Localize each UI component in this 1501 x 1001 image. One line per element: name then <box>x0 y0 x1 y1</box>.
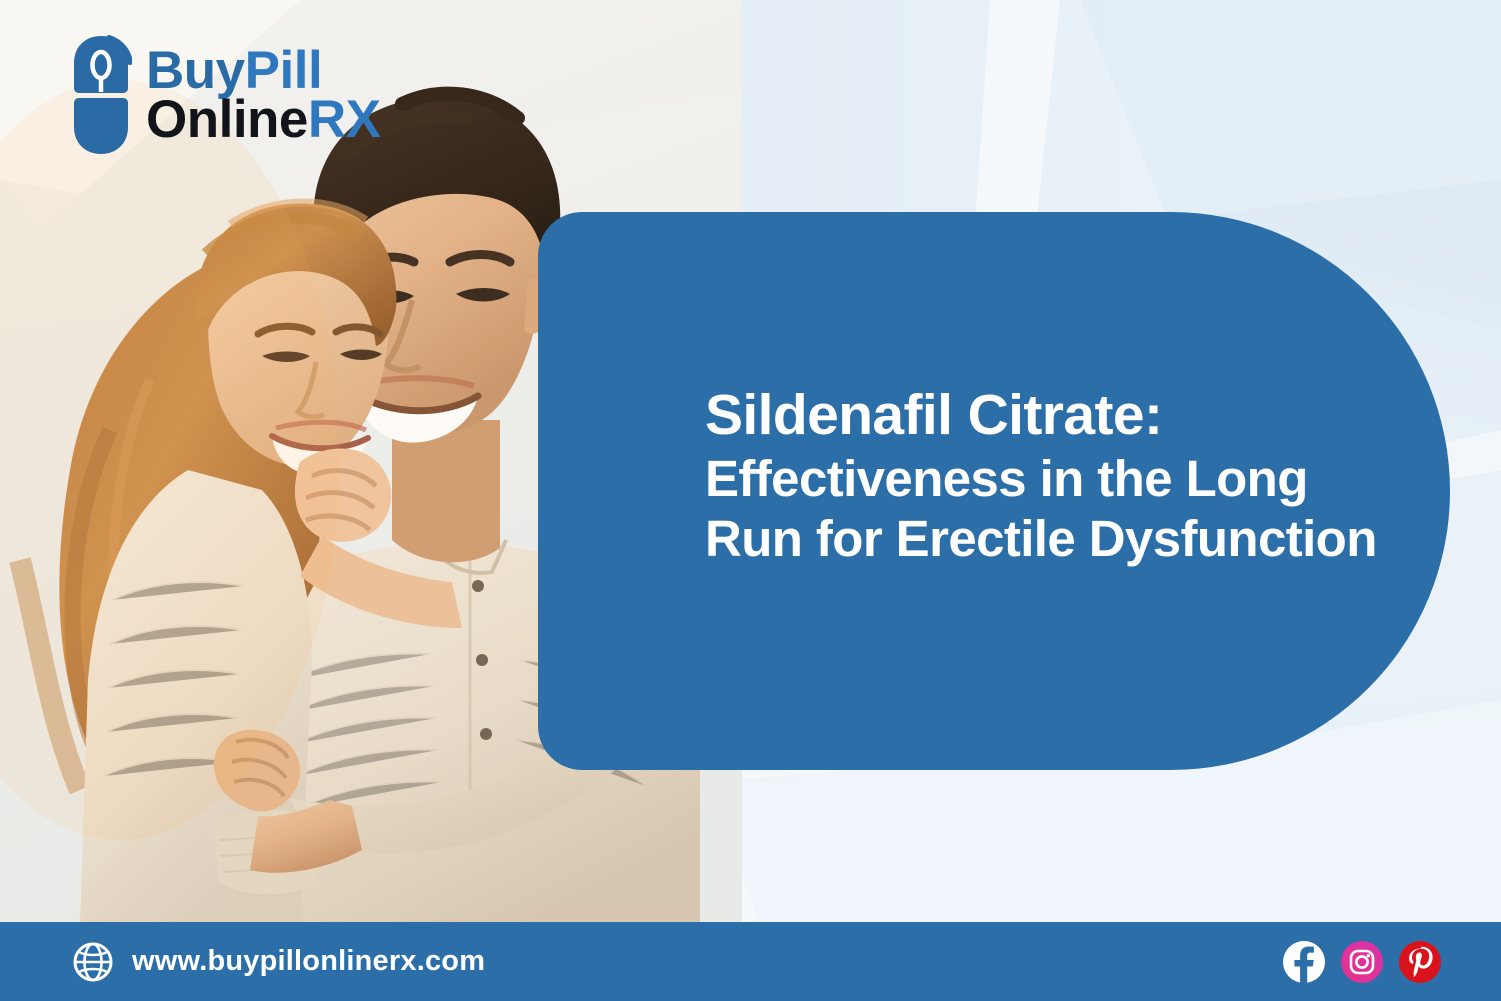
brand-wordmark: BuyPill OnlineRX <box>146 46 381 145</box>
brand-rx-text: RX <box>308 90 381 149</box>
footer-bar: www.buypillonlinerx.com <box>0 922 1501 1001</box>
footer-website[interactable]: www.buypillonlinerx.com <box>72 941 485 983</box>
instagram-icon[interactable] <box>1341 941 1383 983</box>
promotional-banner: BuyPill OnlineRX <box>0 0 1501 1001</box>
page-title: Sildenafil Citrate: Effectiveness in the… <box>705 382 1440 569</box>
title-line-2: Effectiveness in the Long <box>705 449 1440 509</box>
facebook-icon[interactable] <box>1283 941 1325 983</box>
brand-line-two: OnlineRX <box>146 95 381 144</box>
globe-icon <box>72 941 114 983</box>
pinterest-icon[interactable] <box>1399 941 1441 983</box>
brand-logo[interactable]: BuyPill OnlineRX <box>70 34 381 156</box>
footer-url-text: www.buypillonlinerx.com <box>132 945 485 978</box>
title-line-1: Sildenafil Citrate: <box>705 382 1440 449</box>
computer-mouse-icon <box>70 34 132 156</box>
title-line-3: Run for Erectile Dysfunction <box>705 509 1440 569</box>
brand-line-one: BuyPill <box>146 46 381 95</box>
social-links <box>1283 941 1441 983</box>
brand-online-text: Online <box>146 90 308 149</box>
